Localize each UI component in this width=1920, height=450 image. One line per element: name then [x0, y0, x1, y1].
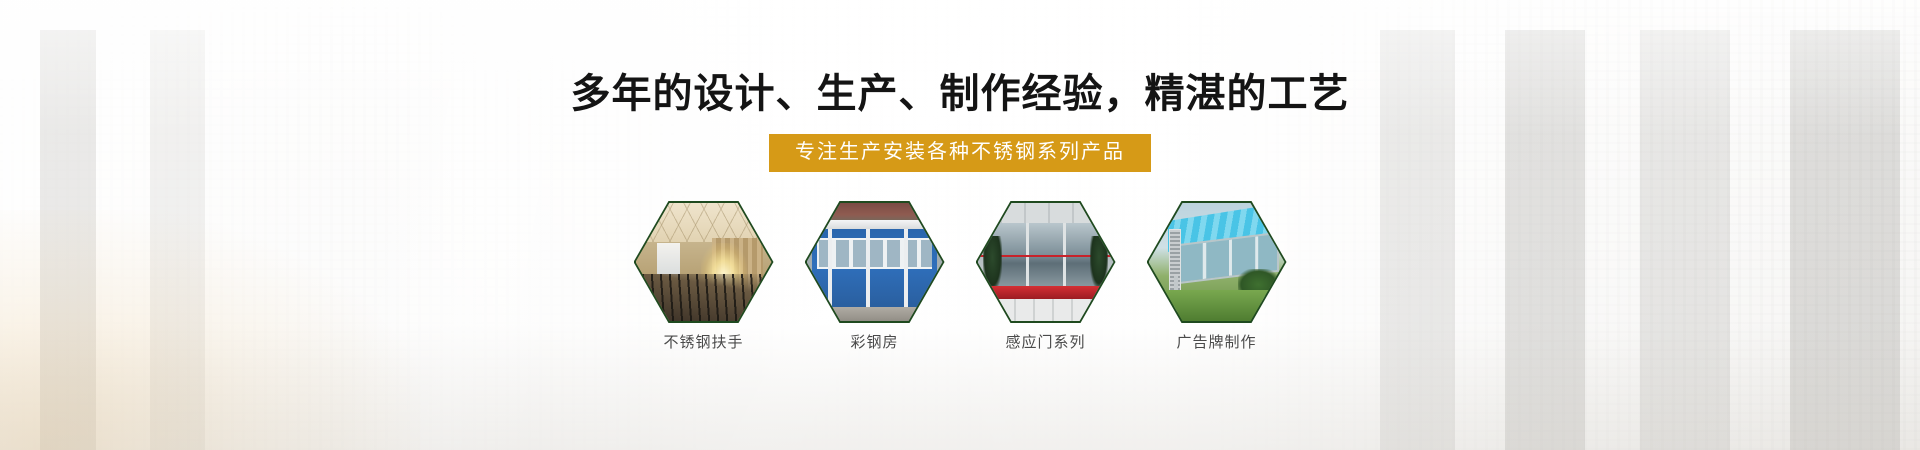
product-label: 彩钢房 [850, 334, 898, 352]
hexagon-image-clip [1149, 203, 1285, 321]
billboard-sign-photo [1149, 203, 1285, 321]
banner-subtitle-wrapper: 专注生产安装各种不锈钢系列产品 [769, 134, 1151, 172]
product-label: 广告牌制作 [1176, 334, 1256, 352]
product-item-billboard[interactable]: 广告牌制作 [1147, 201, 1287, 352]
hexagon-frame [976, 201, 1116, 323]
stainless-steel-handrail-photo [636, 203, 772, 321]
hexagon-image-clip [978, 203, 1114, 321]
product-label: 不锈钢扶手 [663, 334, 743, 352]
banner-subtitle-badge: 专注生产安装各种不锈钢系列产品 [769, 134, 1151, 172]
promo-banner: 多年的设计、生产、制作经验，精湛的工艺 专注生产安装各种不锈钢系列产品 不锈钢扶… [0, 0, 1920, 450]
product-label: 感应门系列 [1005, 334, 1085, 352]
product-item-sensor-door[interactable]: 感应门系列 [976, 201, 1116, 352]
product-hexagon-row: 不锈钢扶手 彩钢房 [634, 201, 1287, 352]
hexagon-frame [805, 201, 945, 323]
color-steel-prefab-house-photo [807, 203, 943, 321]
product-item-handrail[interactable]: 不锈钢扶手 [634, 201, 774, 352]
banner-headline: 多年的设计、生产、制作经验，精湛的工艺 [571, 74, 1350, 114]
automatic-sensor-door-photo [978, 203, 1114, 321]
hexagon-image-clip [636, 203, 772, 321]
hexagon-image-clip [807, 203, 943, 321]
product-item-prefab-house[interactable]: 彩钢房 [805, 201, 945, 352]
hexagon-frame [634, 201, 774, 323]
banner-content: 多年的设计、生产、制作经验，精湛的工艺 专注生产安装各种不锈钢系列产品 不锈钢扶… [0, 0, 1920, 450]
hexagon-frame [1147, 201, 1287, 323]
